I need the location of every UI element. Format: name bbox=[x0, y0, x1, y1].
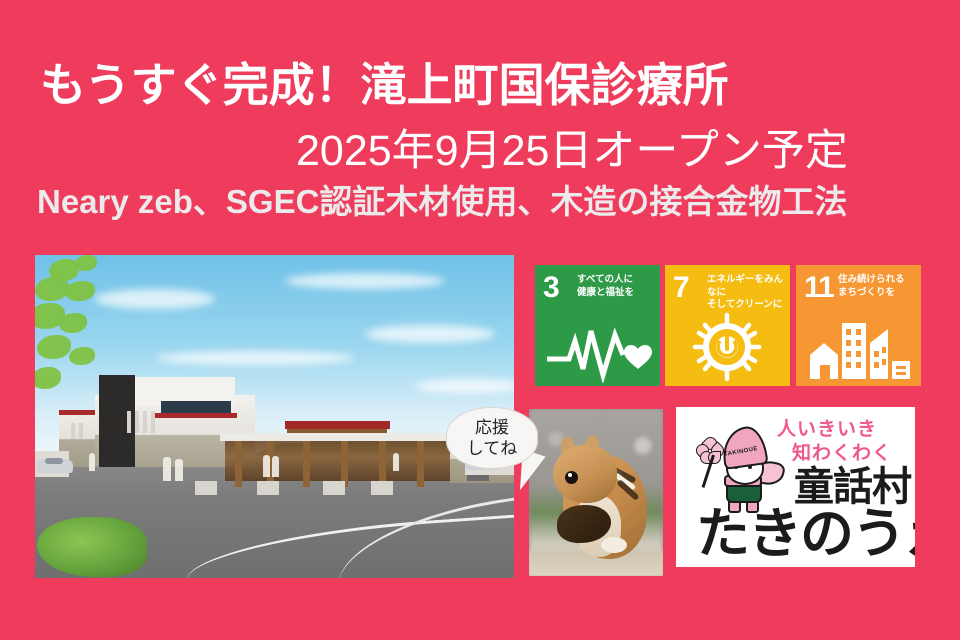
sdg-tile-3: 3 すべての人に 健康と福祉を bbox=[535, 265, 660, 386]
foreground-tree bbox=[35, 255, 149, 401]
person-figure bbox=[175, 459, 183, 481]
person-figure bbox=[89, 453, 95, 471]
clinic-window bbox=[127, 411, 131, 433]
clinic-window bbox=[135, 411, 139, 433]
entrance-canopy bbox=[220, 433, 455, 441]
sdg-caption: すべての人に 健康と福祉を bbox=[577, 274, 655, 299]
pillar-base bbox=[371, 481, 393, 495]
headline-line-3: Neary zeb、SGEC認証木材使用、木造の接合金物工法 bbox=[37, 182, 847, 222]
person-figure bbox=[393, 453, 399, 471]
sdg-number: 7 bbox=[673, 273, 690, 303]
logo-mid-line: 童話村 bbox=[794, 465, 911, 509]
chipmunk-paw bbox=[601, 537, 627, 553]
wood-column bbox=[303, 441, 310, 487]
clinic-window bbox=[151, 411, 155, 433]
person-figure bbox=[163, 457, 171, 481]
clinic-window bbox=[71, 423, 75, 439]
speech-bubble: 応援 してね bbox=[446, 407, 538, 469]
wood-column bbox=[235, 441, 242, 487]
mascot-hat bbox=[719, 424, 768, 470]
cloud-shape bbox=[415, 379, 514, 393]
person-figure bbox=[272, 456, 279, 477]
clinic-window-strip bbox=[161, 401, 231, 413]
car-window bbox=[45, 458, 63, 464]
takinoue-town-logo: TAKINOUE 人いきいき 知わくわく 童話村 たきのうえ bbox=[676, 407, 915, 567]
speech-bubble-text: 応援 してね bbox=[467, 417, 518, 459]
logo-top-line-2: 知わくわく bbox=[792, 443, 892, 465]
sun-power-icon bbox=[665, 311, 790, 383]
chipmunk-head bbox=[553, 445, 617, 503]
cloud-shape bbox=[365, 325, 495, 343]
mascot-character: TAKINOUE bbox=[696, 425, 788, 509]
logo-top-line-1: 人いきいき bbox=[777, 419, 877, 441]
person-figure bbox=[263, 455, 270, 477]
cloud-shape bbox=[155, 351, 355, 365]
clinic-window bbox=[79, 423, 83, 439]
speech-bubble-line-2: してね bbox=[467, 438, 518, 459]
clinic-red-band bbox=[155, 413, 237, 418]
sdg-number: 11 bbox=[804, 273, 834, 303]
headline-line-1: もうすぐ完成！滝上町国保診療所 bbox=[40, 58, 729, 112]
pillar-base bbox=[257, 481, 279, 495]
sdg-caption: エネルギーをみんなに そしてクリーンに bbox=[707, 274, 785, 312]
clinic-window bbox=[143, 411, 147, 433]
sdg-number: 3 bbox=[543, 273, 560, 303]
flower-icon bbox=[696, 437, 722, 463]
sdg-tile-11: 11 住み続けられる まちづくりを bbox=[796, 265, 921, 386]
heartbeat-icon bbox=[535, 311, 660, 383]
sdg-caption: 住み続けられる まちづくりを bbox=[838, 274, 916, 299]
city-buildings-icon bbox=[796, 311, 921, 383]
entrance-red-roof bbox=[285, 421, 390, 429]
cloud-shape bbox=[285, 273, 445, 289]
headline-line-2: 2025年9月25日オープン予定 bbox=[296, 126, 848, 176]
clinic-render-photo bbox=[35, 255, 514, 578]
pillar-base bbox=[195, 481, 217, 495]
logo-inner-panel: TAKINOUE 人いきいき 知わくわく 童話村 たきのうえ bbox=[682, 413, 909, 561]
logo-big-line: たきのうえ bbox=[696, 505, 915, 563]
pillar-base bbox=[323, 481, 345, 495]
wood-column bbox=[417, 441, 424, 487]
chipmunk-eye bbox=[565, 471, 578, 484]
speech-bubble-line-1: 応援 bbox=[467, 417, 518, 438]
sdg-tile-7: 7 エネルギーをみんなに そしてクリーンに bbox=[665, 265, 790, 386]
poster-root: もうすぐ完成！滝上町国保診療所 2025年9月25日オープン予定 Neary z… bbox=[0, 0, 960, 640]
chipmunk-photo bbox=[529, 409, 663, 576]
